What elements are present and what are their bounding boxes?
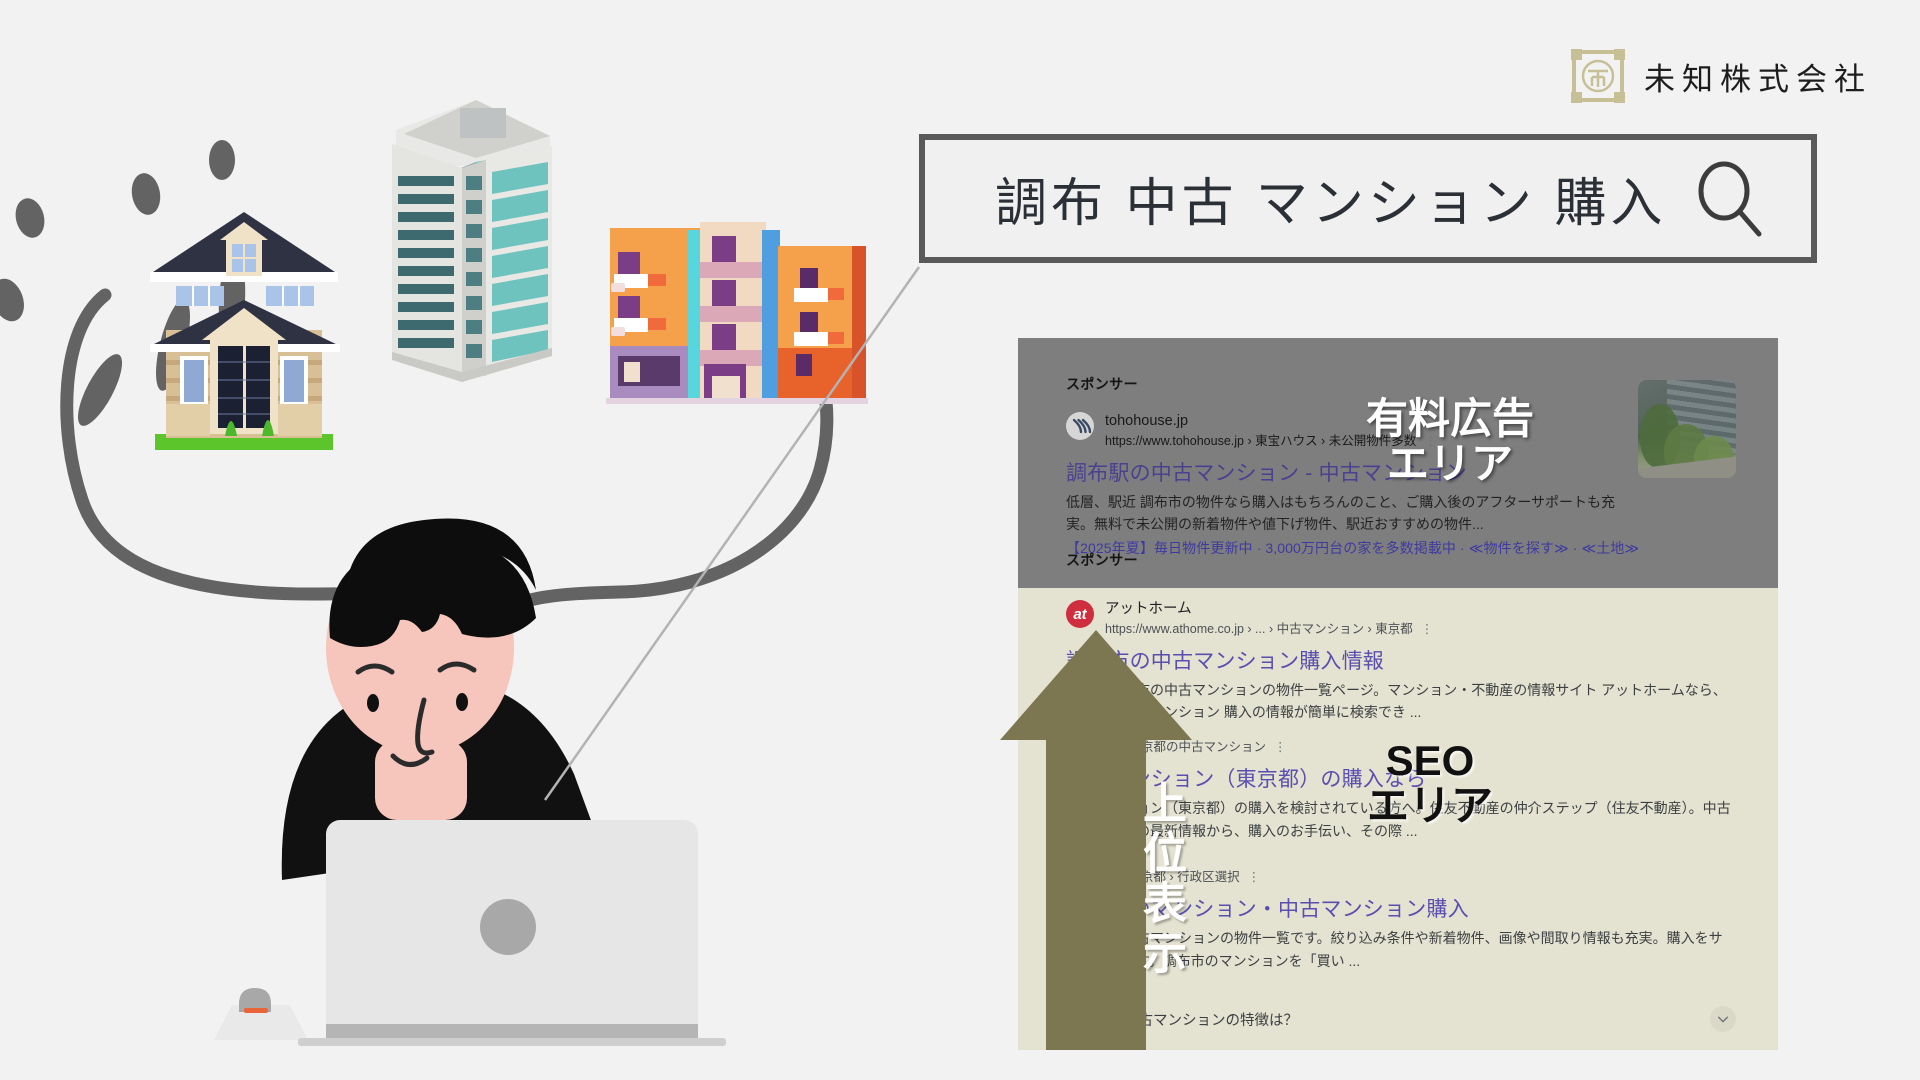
square-seal-icon [1570, 48, 1626, 104]
slide-canvas: 未知株式会社 調布 中古 マンション 購入 スポンサー [0, 0, 1920, 1080]
chevron-down-icon[interactable] [1710, 1006, 1736, 1032]
organic-site-name: アットホーム [1105, 600, 1433, 620]
house-icon [150, 212, 340, 450]
kebab-menu-icon[interactable]: ⋮ [1421, 622, 1434, 636]
search-icon[interactable] [1691, 160, 1769, 238]
tohohouse-favicon [1066, 412, 1094, 440]
mouse-icon [214, 988, 308, 1040]
brand-logo: 未知株式会社 [1570, 48, 1872, 104]
ranking-up-arrow: 上位表示 [1000, 630, 1192, 1050]
ad-thumbnail-image [1638, 380, 1736, 478]
ad-description: 低層、駅近 調布市の物件なら購入はもちろんのこと、ご購入後のアフターサポートも充… [1066, 491, 1626, 536]
search-input[interactable]: 調布 中古 マンション 購入 [919, 134, 1817, 263]
paid-ad-callout-line2: エリア [1260, 441, 1640, 486]
seo-callout-line1: SEO [1265, 738, 1595, 783]
paid-ad-area-callout: 有料広告 エリア [1260, 396, 1640, 487]
search-query-text: 調布 中古 マンション 購入 [995, 161, 1673, 236]
paid-ad-callout-line1: 有料広告 [1260, 396, 1640, 441]
athome-favicon: at [1066, 600, 1094, 628]
illustration-group [0, 0, 1000, 1080]
sponsored-label-2: スポンサー [1066, 550, 1736, 570]
office-tower-icon [392, 100, 552, 382]
laptop-icon [298, 820, 726, 1046]
seo-area-callout: SEO エリア [1265, 738, 1595, 829]
brand-name: 未知株式会社 [1644, 54, 1872, 99]
sponsored-label-1: スポンサー [1066, 374, 1736, 394]
kebab-menu-icon[interactable]: ⋮ [1248, 870, 1261, 884]
seo-callout-line2: エリア [1265, 783, 1595, 828]
arrow-label: 上位表示 [1000, 780, 1192, 980]
apartment-block-icon [606, 222, 868, 404]
